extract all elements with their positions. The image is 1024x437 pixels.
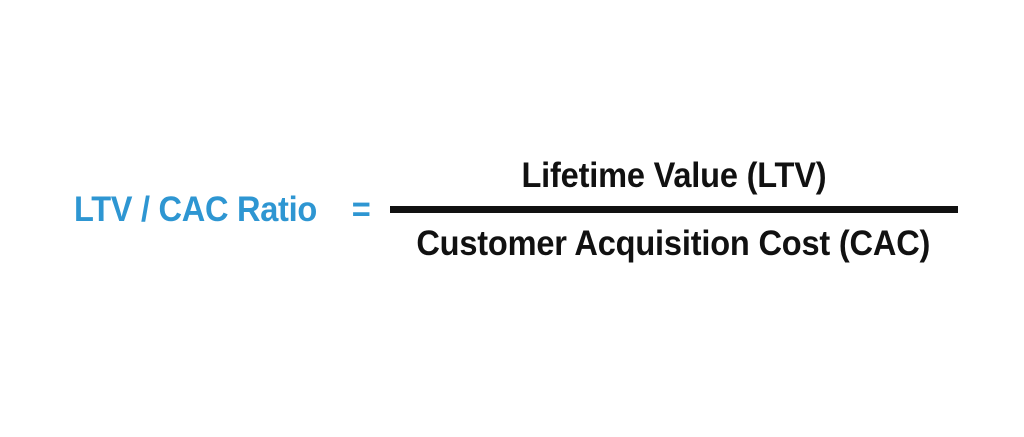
formula-row: LTV / CAC Ratio = Lifetime Value (LTV) C… — [74, 158, 958, 261]
fraction: Lifetime Value (LTV) Customer Acquisitio… — [390, 158, 958, 261]
fraction-numerator: Lifetime Value (LTV) — [521, 158, 826, 206]
ltv-cac-ratio-label: LTV / CAC Ratio — [74, 192, 317, 227]
formula-left-side: LTV / CAC Ratio = — [74, 192, 390, 227]
fraction-bar — [390, 206, 958, 213]
equals-sign: = — [352, 192, 371, 227]
formula-canvas: LTV / CAC Ratio = Lifetime Value (LTV) C… — [0, 0, 1024, 437]
fraction-denominator: Customer Acquisition Cost (CAC) — [417, 213, 931, 261]
formula-container: LTV / CAC Ratio = Lifetime Value (LTV) C… — [0, 0, 1024, 437]
